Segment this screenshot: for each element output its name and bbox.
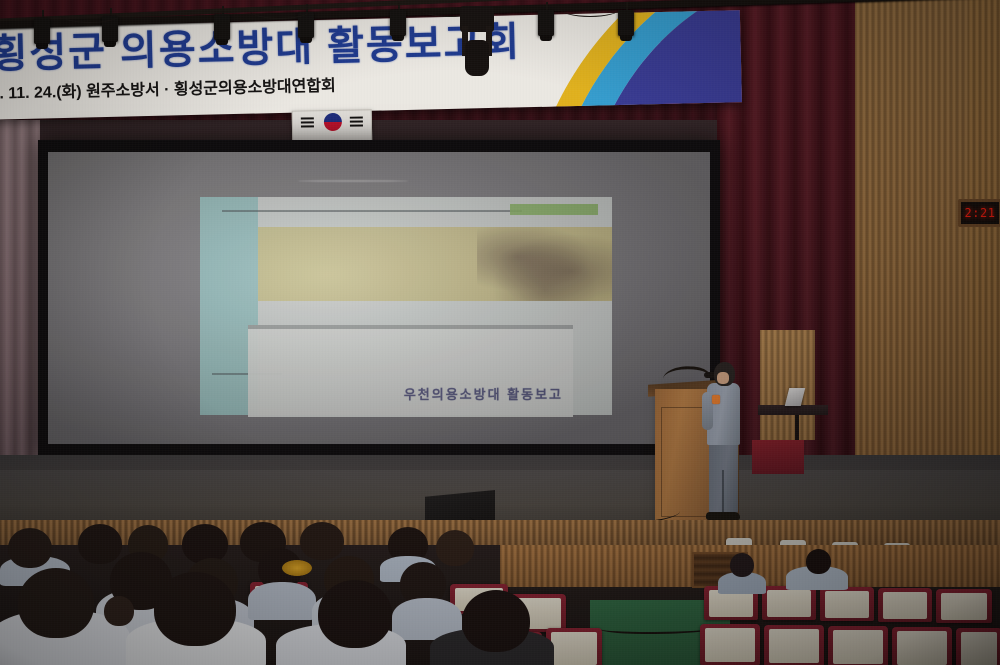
trigram-icon xyxy=(350,120,363,122)
theater-seat xyxy=(956,628,1000,665)
truss-cable xyxy=(560,0,620,17)
theater-seat xyxy=(700,624,760,665)
theater-seat xyxy=(892,627,952,665)
trigram-icon xyxy=(301,125,314,127)
moving-head-light-icon xyxy=(460,6,494,76)
audience-member-torso xyxy=(248,582,316,620)
audience-member-head xyxy=(436,530,474,566)
wood-column xyxy=(760,330,815,440)
stage-light-icon xyxy=(538,10,554,36)
stage-light-icon xyxy=(34,18,50,44)
theater-seat xyxy=(764,625,824,665)
theater-seat xyxy=(546,628,602,665)
screen-glow xyxy=(48,152,710,444)
audience-member-head xyxy=(806,549,831,574)
audience-member-head xyxy=(300,522,344,560)
stage-light-icon xyxy=(390,10,406,36)
theater-seat xyxy=(828,626,888,665)
presenter-leg-split xyxy=(722,470,724,514)
audience-member-head xyxy=(462,590,530,652)
presenter-shoes xyxy=(706,512,740,520)
audience-member-head xyxy=(730,553,754,577)
uniform-badge-icon xyxy=(712,395,720,404)
audience-member-head xyxy=(78,524,122,564)
side-table xyxy=(758,405,828,415)
audience-member-head xyxy=(318,580,392,648)
auditorium-photo: 2:21 횡성군 의용소방대 활동보고회 09. 11. 24.(화) 원주소방… xyxy=(0,0,1000,665)
truss-cable xyxy=(60,6,120,23)
trigram-icon xyxy=(350,124,363,126)
projection-screen: 우천의용소방대 활동보고 xyxy=(48,152,710,444)
audience-member-head xyxy=(18,568,94,638)
audience-member-head xyxy=(154,572,236,646)
clock-time: 2:21 xyxy=(965,206,996,220)
audience-member-head xyxy=(104,596,134,626)
truss-cable xyxy=(250,2,310,19)
stage-light-icon xyxy=(214,14,230,40)
stage-light-icon xyxy=(618,10,634,36)
theater-seat xyxy=(878,588,932,622)
trigram-icon xyxy=(350,116,363,118)
digital-clock: 2:21 xyxy=(958,199,1000,227)
theater-seat xyxy=(936,589,992,623)
trigram-icon xyxy=(301,117,314,119)
side-chair xyxy=(752,440,804,474)
presenter-face xyxy=(717,372,729,384)
theater-seat xyxy=(820,587,874,621)
lighting-truss xyxy=(0,0,1000,60)
hair-clip-icon xyxy=(282,560,312,576)
trigram-icon xyxy=(301,121,314,123)
audience-member-head xyxy=(8,528,52,568)
theater-seat xyxy=(762,586,816,620)
taeguk-circle xyxy=(324,113,342,131)
